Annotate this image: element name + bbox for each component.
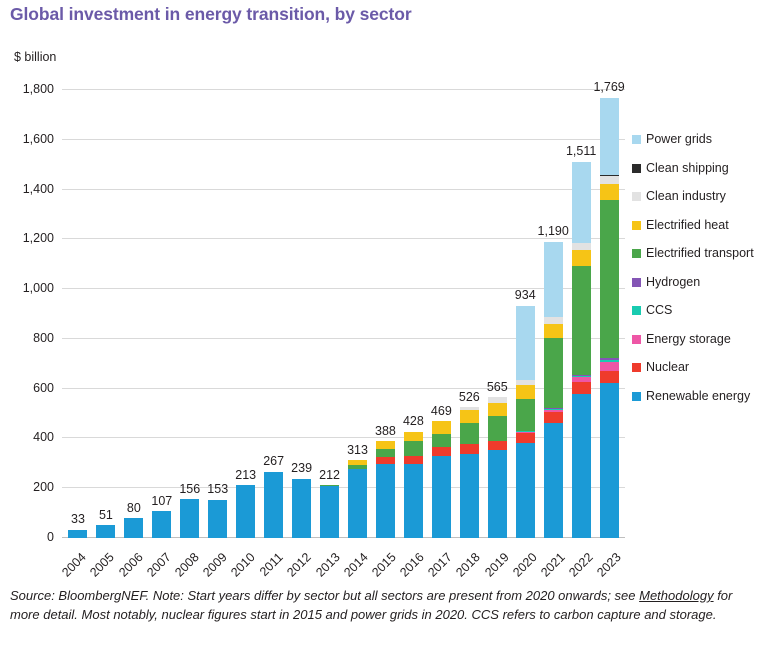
bar-column[interactable]: 934: [511, 90, 539, 538]
y-axis-tick-label: 1,400: [23, 182, 54, 196]
bar-segment[interactable]: [376, 464, 395, 538]
legend-item[interactable]: Renewable energy: [632, 389, 764, 404]
bar-segment[interactable]: [600, 184, 619, 200]
legend-item-label: Power grids: [646, 132, 712, 147]
x-axis-tick-label: 2014: [341, 550, 371, 580]
bar-stack[interactable]: [264, 472, 283, 538]
legend-swatch-icon: [632, 164, 641, 173]
y-axis-tick-label: 1,000: [23, 281, 54, 295]
bar-segment[interactable]: [572, 243, 591, 250]
bar-stack[interactable]: [208, 500, 227, 538]
bar-segment[interactable]: [600, 383, 619, 538]
bar-value-label: 526: [459, 391, 480, 404]
y-axis-tick-label: 200: [33, 480, 54, 494]
bar-column[interactable]: 428: [399, 90, 427, 538]
bar-stack[interactable]: [572, 162, 591, 538]
x-axis-tick-label: 2012: [285, 550, 315, 580]
bar-value-label: 313: [347, 444, 368, 457]
bar-segment[interactable]: [516, 399, 535, 431]
bar-segment[interactable]: [348, 469, 367, 538]
legend-item-label: CCS: [646, 303, 672, 318]
x-axis-tick-label: 2016: [397, 550, 427, 580]
bar-segment[interactable]: [152, 511, 171, 538]
y-axis-tick-label: 0: [47, 530, 54, 544]
bar-column[interactable]: 526: [455, 90, 483, 538]
legend-swatch-icon: [632, 392, 641, 401]
legend-item-label: Clean industry: [646, 189, 726, 204]
y-axis-tick-label: 1,200: [23, 231, 54, 245]
bar-segment[interactable]: [572, 250, 591, 266]
x-axis-tick-label: 2023: [594, 550, 624, 580]
bar-segment[interactable]: [488, 416, 507, 440]
bar-segment[interactable]: [68, 530, 87, 538]
x-axis-tick-label: 2022: [566, 550, 596, 580]
bar-segment[interactable]: [96, 525, 115, 538]
bar-value-label: 51: [99, 509, 113, 522]
bar-column[interactable]: 469: [427, 90, 455, 538]
bar-value-label: 80: [127, 502, 141, 515]
bar-value-label: 267: [263, 455, 284, 468]
legend-item[interactable]: Clean shipping: [632, 161, 764, 176]
bar-column[interactable]: 33: [64, 90, 92, 538]
bar-column[interactable]: 1,769: [595, 90, 623, 538]
bar-stack[interactable]: [432, 421, 451, 538]
bar-segment[interactable]: [600, 98, 619, 176]
bar-stack[interactable]: [404, 432, 423, 538]
bar-segment[interactable]: [404, 464, 423, 538]
bar-value-label: 388: [375, 425, 396, 438]
bar-value-label: 239: [291, 462, 312, 475]
legend-item[interactable]: Hydrogen: [632, 275, 764, 290]
bar-segment[interactable]: [460, 444, 479, 453]
bar-segment[interactable]: [292, 479, 311, 538]
bar-segment[interactable]: [516, 385, 535, 399]
bar-segment[interactable]: [572, 162, 591, 243]
x-axis-tick-label: 2015: [369, 550, 399, 580]
x-axis-tick-label: 2010: [228, 550, 258, 580]
bar-stack[interactable]: [544, 242, 563, 538]
bar-stack[interactable]: [180, 499, 199, 538]
bar-value-label: 1,190: [538, 225, 569, 238]
bar-stack[interactable]: [320, 485, 339, 538]
footnote: Source: BloombergNEF. Note: Start years …: [10, 586, 758, 624]
x-axis-tick-label: 2009: [200, 550, 230, 580]
legend-item[interactable]: Energy storage: [632, 332, 764, 347]
bar-segment[interactable]: [516, 306, 535, 380]
legend-item[interactable]: Power grids: [632, 132, 764, 147]
methodology-link[interactable]: Methodology: [639, 588, 713, 603]
bar-segment[interactable]: [516, 443, 535, 538]
bar-segment[interactable]: [432, 447, 451, 455]
bar-segment[interactable]: [432, 421, 451, 433]
x-axis-tick-label: 2019: [482, 550, 512, 580]
x-axis-labels: 2004200520062007200820092010201120122013…: [62, 540, 625, 588]
y-axis-tick-label: 600: [33, 381, 54, 395]
bar-column[interactable]: 107: [148, 90, 176, 538]
bar-stack[interactable]: [488, 397, 507, 538]
bar-column[interactable]: 153: [204, 90, 232, 538]
bar-segment[interactable]: [320, 486, 339, 538]
bar-segment[interactable]: [544, 338, 563, 408]
x-axis-tick-label: 2013: [313, 550, 343, 580]
bar-column[interactable]: 212: [316, 90, 344, 538]
legend-item-label: Nuclear: [646, 360, 689, 375]
legend-item-label: Electrified heat: [646, 218, 729, 233]
bar-column[interactable]: 239: [288, 90, 316, 538]
legend-swatch-icon: [632, 221, 641, 230]
legend-item[interactable]: Nuclear: [632, 360, 764, 375]
bar-value-label: 156: [179, 483, 200, 496]
legend-swatch-icon: [632, 306, 641, 315]
bar-segment[interactable]: [404, 432, 423, 442]
x-axis-tick-label: 2017: [425, 550, 455, 580]
bar-segment[interactable]: [572, 394, 591, 538]
legend-item-label: Electrified transport: [646, 246, 754, 261]
bar-value-label: 153: [207, 483, 228, 496]
footnote-text-part1: Source: BloombergNEF. Note: Start years …: [10, 588, 639, 603]
bar-segment[interactable]: [376, 441, 395, 448]
x-axis-tick-label: 2007: [144, 550, 174, 580]
legend-item-label: Renewable energy: [646, 389, 750, 404]
bar-stack[interactable]: [348, 460, 367, 538]
bar-segment[interactable]: [544, 242, 563, 317]
chart-legend: Power gridsClean shippingClean industryE…: [632, 132, 764, 417]
bar-value-label: 565: [487, 381, 508, 394]
bar-segment[interactable]: [376, 449, 395, 457]
legend-item[interactable]: CCS: [632, 303, 764, 318]
bar-segment[interactable]: [516, 433, 535, 443]
bar-column[interactable]: 565: [483, 90, 511, 538]
bar-stack[interactable]: [236, 485, 255, 538]
legend-swatch-icon: [632, 278, 641, 287]
y-axis-tick-label: 400: [33, 430, 54, 444]
x-axis-tick-label: 2020: [510, 550, 540, 580]
bar-segment[interactable]: [180, 499, 199, 538]
plot-area: 02004006008001,0001,2001,4001,6001,800 3…: [62, 90, 625, 538]
bar-stack[interactable]: [376, 441, 395, 538]
bar-segment[interactable]: [460, 454, 479, 538]
legend-item[interactable]: Electrified heat: [632, 218, 764, 233]
bar-segment[interactable]: [544, 412, 563, 423]
legend-swatch-icon: [632, 363, 641, 372]
bar-stack[interactable]: [68, 530, 87, 538]
bar-stack[interactable]: [124, 518, 143, 538]
bar-value-label: 33: [71, 513, 85, 526]
bar-stack[interactable]: [96, 525, 115, 538]
y-axis-tick-label: 1,800: [23, 82, 54, 96]
bar-series-container: 3351801071561532132672392123133884284695…: [62, 90, 625, 538]
x-axis-tick-label: 2011: [257, 550, 286, 579]
bar-segment[interactable]: [264, 472, 283, 538]
bar-segment[interactable]: [600, 362, 619, 371]
legend-item-label: Hydrogen: [646, 275, 700, 290]
legend-swatch-icon: [632, 335, 641, 344]
bar-column[interactable]: 388: [371, 90, 399, 538]
y-axis-unit-label: $ billion: [14, 50, 56, 64]
bar-value-label: 428: [403, 415, 424, 428]
bar-segment[interactable]: [600, 176, 619, 184]
bar-column[interactable]: 313: [344, 90, 372, 538]
bar-stack[interactable]: [292, 479, 311, 538]
bar-column[interactable]: 1,511: [567, 90, 595, 538]
bar-column[interactable]: 51: [92, 90, 120, 538]
x-axis-tick-label: 2004: [59, 550, 89, 580]
y-axis-tick-label: 1,600: [23, 132, 54, 146]
bar-column[interactable]: 213: [232, 90, 260, 538]
bar-segment[interactable]: [572, 382, 591, 393]
bar-segment[interactable]: [544, 423, 563, 538]
bar-value-label: 212: [319, 469, 340, 482]
bar-segment[interactable]: [208, 500, 227, 538]
legend-item-label: Energy storage: [646, 332, 731, 347]
legend-swatch-icon: [632, 249, 641, 258]
bar-value-label: 213: [235, 469, 256, 482]
x-axis-tick-label: 2008: [172, 550, 202, 580]
bar-segment[interactable]: [488, 450, 507, 538]
bar-value-label: 107: [151, 495, 172, 508]
bar-segment[interactable]: [488, 441, 507, 451]
bar-segment[interactable]: [572, 266, 591, 375]
bar-column[interactable]: 156: [176, 90, 204, 538]
bar-column[interactable]: 80: [120, 90, 148, 538]
legend-item[interactable]: Electrified transport: [632, 246, 764, 261]
bar-segment[interactable]: [544, 324, 563, 339]
legend-item[interactable]: Clean industry: [632, 189, 764, 204]
bar-segment[interactable]: [376, 457, 395, 464]
x-axis-tick-label: 2021: [538, 550, 568, 580]
legend-swatch-icon: [632, 135, 641, 144]
bar-segment[interactable]: [460, 410, 479, 423]
bar-value-label: 1,511: [566, 145, 596, 158]
bar-segment[interactable]: [432, 456, 451, 538]
bar-segment[interactable]: [404, 441, 423, 456]
x-axis-tick-label: 2005: [88, 550, 118, 580]
bar-stack[interactable]: [152, 511, 171, 538]
x-axis-tick-label: 2018: [454, 550, 484, 580]
bar-segment[interactable]: [236, 485, 255, 538]
bar-stack[interactable]: [600, 98, 619, 538]
bar-stack[interactable]: [460, 407, 479, 538]
bar-value-label: 934: [515, 289, 536, 302]
page-title: Global investment in energy transition, …: [10, 4, 412, 25]
bar-column[interactable]: 1,190: [539, 90, 567, 538]
bar-value-label: 1,769: [593, 81, 624, 94]
bar-stack[interactable]: [516, 306, 535, 538]
legend-item-label: Clean shipping: [646, 161, 729, 176]
bar-segment[interactable]: [404, 456, 423, 464]
x-axis-tick-label: 2006: [116, 550, 146, 580]
bar-segment[interactable]: [600, 371, 619, 383]
bar-value-label: 469: [431, 405, 452, 418]
bar-segment[interactable]: [488, 403, 507, 416]
y-axis-tick-label: 800: [33, 331, 54, 345]
bar-segment[interactable]: [432, 434, 451, 447]
bar-column[interactable]: 267: [260, 90, 288, 538]
bar-segment[interactable]: [460, 423, 479, 445]
legend-swatch-icon: [632, 192, 641, 201]
bar-segment[interactable]: [124, 518, 143, 538]
bar-segment[interactable]: [600, 200, 619, 358]
